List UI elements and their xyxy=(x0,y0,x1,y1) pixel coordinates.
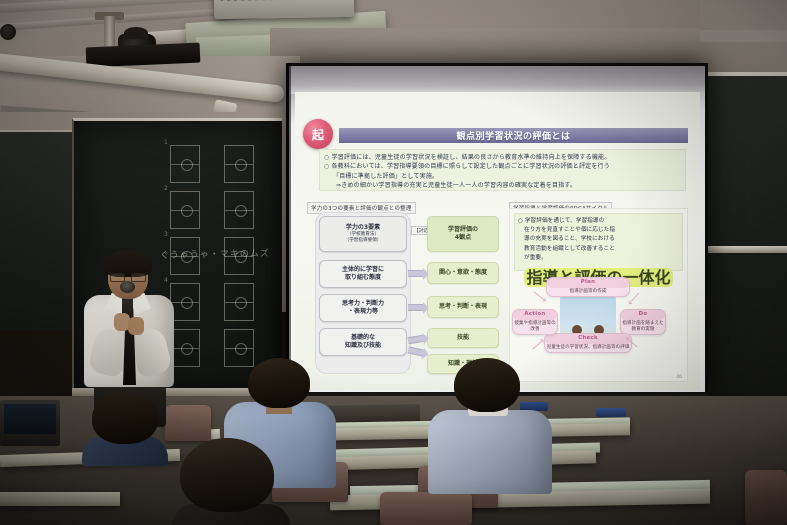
projection-screen: 起 観点別学習状況の評価とは ○学習評価には、児童生徒の学習状況を検証し、結果の… xyxy=(286,63,708,396)
audience-head xyxy=(454,358,520,412)
source-item-knowledge: 基礎的な 知識及び技能 xyxy=(319,328,407,356)
target-heading-line1: 学習評価の xyxy=(448,226,478,234)
mapping-arrow-icon xyxy=(408,335,425,344)
mapping-arrow-icon xyxy=(408,270,424,277)
pdca-node-text: 児童生徒の学習状況、指導計画等の評価 xyxy=(547,345,630,350)
source-item-line1: 思考力・判断力 xyxy=(342,300,384,308)
blackboard-right-rail-upper xyxy=(706,246,787,253)
audience-head xyxy=(92,392,158,444)
bullet-item: ○学習評価には、児童生徒の学習状況を検証し、結果の良さから教育水準の維持向上を保… xyxy=(324,153,681,162)
target-item-skill: 技能 xyxy=(427,328,499,348)
source-item-line1: 主体的に学習に xyxy=(342,266,384,274)
right-text-line: 導の充実を図ること、学校における xyxy=(518,235,679,244)
right-text-line: が重要。 xyxy=(518,254,679,263)
slide-title: 観点別学習状況の評価とは xyxy=(339,128,688,143)
source-heading-main: 学力の3要素 xyxy=(346,224,380,232)
slide-section-badge: 起 xyxy=(303,119,333,149)
slide-content: 起 観点別学習状況の評価とは ○学習評価には、児童生徒の学習状況を検証し、結果の… xyxy=(295,92,700,390)
microphone-head-icon xyxy=(120,281,135,293)
source-item-line1: 基礎的な xyxy=(351,334,375,342)
audience-member xyxy=(428,358,552,490)
pencil-case xyxy=(596,408,626,417)
bullet-text: 学習評価には、児童生徒の学習状況を検証し、結果の良さから教育水準の維持向上を保障… xyxy=(331,154,610,161)
desk xyxy=(0,492,120,506)
audience-head xyxy=(248,358,310,408)
blackboard-right xyxy=(706,72,787,412)
wall-beam xyxy=(700,30,787,42)
presenter-hand-right xyxy=(128,317,144,335)
right-text-line: 在り方を見直すことや個に応じた指 xyxy=(518,226,679,235)
chalk-field-diagram xyxy=(170,191,200,229)
ceiling-speaker-icon xyxy=(0,24,16,40)
chalk-field-label: 3 xyxy=(164,231,168,238)
pdca-node-do: Do 指導計画を踏まえた教育の実施 xyxy=(620,309,666,335)
audience-member xyxy=(82,392,168,462)
chalk-field-diagram xyxy=(224,145,254,183)
wall-above-screen xyxy=(270,28,710,64)
classroom-photo: ぐうゃうゃ・マキのムズ 1 2 3 4 起 観点別学習状況の評価とは ○学習評価… xyxy=(0,0,787,525)
pdca-node-check: Check 児童生徒の学習状況、指導計画等の評価 xyxy=(544,333,632,353)
bullet-marker-icon: ○ xyxy=(324,154,329,161)
audience-member-foreground xyxy=(172,438,290,525)
bullet-marker-icon: ○ xyxy=(324,163,329,170)
right-panel-textbox: ○ 学習評価を通じて、学習指導の 在り方を見直すことや個に応じた指 導の充実を図… xyxy=(514,213,683,271)
chalk-field-diagram xyxy=(224,191,254,229)
target-heading-line2: 4観点 xyxy=(455,234,471,242)
mapping-arrow-icon xyxy=(408,304,424,311)
right-diagram-panel: 学習指導と学習評価のPDCAサイクル ○ 学習評価を通じて、学習指導の 在り方を… xyxy=(509,195,688,382)
pdca-node-action: Action 授業や指導計画等の改善 xyxy=(512,309,558,335)
bullet-item-conclusion: ⇒きめの細かい学習指導の充実と児童生徒一人一人の学習内容の確実な定着を目指す。 xyxy=(324,181,681,190)
source-item-attitude: 主体的に学習に 取り組む態度 xyxy=(319,260,407,288)
source-item-line2: 知識及び技能 xyxy=(345,342,381,350)
bullet-text: 各教科においては、学習指導要領の目標に照らして設定した観点ごとに学習状況の評価と… xyxy=(331,163,610,170)
source-item-line2: ・表現力等 xyxy=(348,308,378,316)
chalk-field-label: 2 xyxy=(164,185,168,192)
right-text-line: ○ 学習評価を通じて、学習指導の xyxy=(518,217,679,226)
projector-vents xyxy=(220,0,348,1)
bullet-item: ○各教科においては、学習指導要領の目標に照らして設定した観点ごとに学習状況の評価… xyxy=(324,162,681,171)
pdca-node-caption: Plan xyxy=(547,278,629,288)
source-heading-sub2: （学習指導要領） xyxy=(345,238,382,244)
chalk-field-diagram xyxy=(170,145,200,183)
chalk-field-diagram xyxy=(224,283,254,321)
slide-bullet-list: ○学習評価には、児童生徒の学習状況を検証し、結果の良さから教育水準の維持向上を保… xyxy=(319,149,686,191)
pdca-node-caption: Do xyxy=(621,310,665,320)
ceiling-projector xyxy=(214,0,355,19)
right-text-line: 教育活動を組織として改善すること xyxy=(518,245,679,254)
left-diagram-panel: 学力の3つの要素と評価の観点との整理 学力の3要素 （学校教育法） （学習指導要… xyxy=(307,195,503,380)
laptop-screen xyxy=(4,404,56,434)
chair xyxy=(380,492,472,525)
presenter-eyeglasses xyxy=(110,273,146,280)
pdca-node-text: 指導計画等の作成 xyxy=(570,289,607,294)
pdca-node-text: 授業や指導計画等の改善 xyxy=(514,321,555,332)
chalk-field-diagram xyxy=(224,237,254,275)
chalk-field-label: 1 xyxy=(164,139,168,146)
right-panel-stage: ○ 学習評価を通じて、学習指導の 在り方を見直すことや個に応じた指 導の充実を図… xyxy=(509,208,688,382)
source-column-heading: 学力の3要素 （学校教育法） （学習指導要領） xyxy=(319,216,407,252)
audience-head xyxy=(180,438,274,512)
laptop xyxy=(0,400,60,446)
audience-body xyxy=(428,410,552,494)
pdca-node-caption: Action xyxy=(513,310,557,320)
target-item-interest: 関心・意欲・態度 xyxy=(427,262,499,284)
slide-page-number: 46 xyxy=(676,375,682,380)
chair xyxy=(745,470,787,525)
source-item-line2: 取り組む態度 xyxy=(345,274,381,282)
left-panel-stage: 学力の3要素 （学校教育法） （学習指導要領） 【対応】 主体的に学習に 取り組… xyxy=(307,208,503,380)
screen-dim-band xyxy=(289,66,705,94)
pdca-node-caption: Check xyxy=(545,334,631,344)
target-column-heading: 学習評価の 4観点 xyxy=(427,216,499,252)
source-item-thinking: 思考力・判断力 ・表現力等 xyxy=(319,294,407,322)
blackboard-left xyxy=(0,130,74,330)
projected-slide: 起 観点別学習状況の評価とは ○学習評価には、児童生徒の学習状況を検証し、結果の… xyxy=(289,66,705,393)
pdca-node-text: 指導計画を踏まえた教育の実施 xyxy=(622,321,663,332)
screen-frame-left xyxy=(286,63,291,396)
target-item-thinking: 思考・判断・表現 xyxy=(427,296,499,318)
bullet-item-continuation: 「目標に準拠した評価」として実施。 xyxy=(324,172,681,181)
pdca-node-plan: Plan 指導計画等の作成 xyxy=(546,277,630,297)
